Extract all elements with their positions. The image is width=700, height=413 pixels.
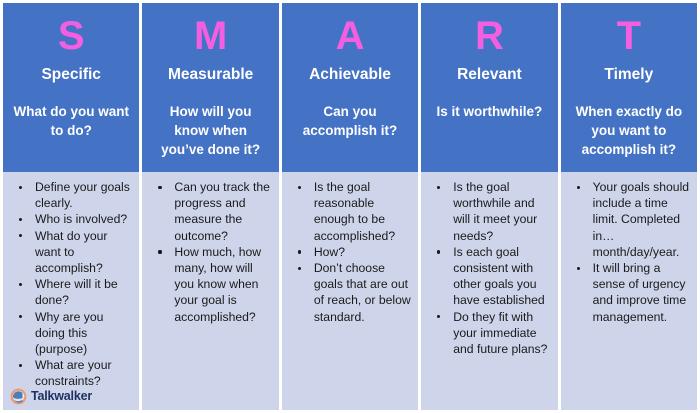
smart-columns-grid: S Specific What do you want to do? Defin…	[3, 3, 697, 410]
smart-goals-diagram: S Specific What do you want to do? Defin…	[0, 0, 700, 413]
list-item: Who is involved?	[9, 211, 133, 227]
list-item: Is the goal reasonable enough to be acco…	[288, 179, 412, 244]
list-item: Is the goal worthwhile and will it meet …	[427, 179, 551, 244]
bullet-list-measurable: Can you track the progress and measure t…	[148, 179, 272, 325]
column-body-timely: Your goals should include a time limit. …	[561, 172, 697, 410]
word-timely: Timely	[604, 65, 653, 85]
list-item: Do they fit with your immediate and futu…	[427, 309, 551, 358]
question-relevant: Is it worthwhile?	[433, 102, 547, 121]
smart-column-specific: S Specific What do you want to do? Defin…	[3, 3, 139, 410]
letter-a: A	[336, 13, 365, 63]
column-header-achievable: A Achievable Can you accomplish it?	[282, 3, 418, 172]
column-header-relevant: R Relevant Is it worthwhile?	[421, 3, 557, 172]
list-item: Don’t choose goals that are out of reach…	[288, 260, 412, 325]
bullet-list-specific: Define your goals clearly. Who is involv…	[9, 179, 133, 390]
talkwalker-logo: Talkwalker	[10, 388, 92, 405]
column-header-timely: T Timely When exactly do you want to acc…	[561, 3, 697, 172]
smart-column-timely: T Timely When exactly do you want to acc…	[561, 3, 697, 410]
bullet-list-timely: Your goals should include a time limit. …	[567, 179, 691, 325]
list-item: How much, how many, how will you know wh…	[148, 244, 272, 325]
smart-column-relevant: R Relevant Is it worthwhile? Is the goal…	[421, 3, 557, 410]
column-body-relevant: Is the goal worthwhile and will it meet …	[421, 172, 557, 410]
column-body-measurable: Can you track the progress and measure t…	[142, 172, 278, 410]
letter-t: T	[617, 13, 641, 63]
word-specific: Specific	[41, 65, 100, 85]
letter-r: R	[475, 13, 504, 63]
list-item: Why are you doing this (purpose)	[9, 309, 133, 358]
list-item: How?	[288, 244, 412, 260]
list-item: Your goals should include a time limit. …	[567, 179, 691, 260]
bullet-list-relevant: Is the goal worthwhile and will it meet …	[427, 179, 551, 357]
word-relevant: Relevant	[457, 65, 522, 85]
column-body-specific: Define your goals clearly. Who is involv…	[3, 172, 139, 410]
word-measurable: Measurable	[168, 65, 253, 85]
list-item: Where will it be done?	[9, 276, 133, 308]
list-item: Can you track the progress and measure t…	[148, 179, 272, 244]
list-item: Define your goals clearly.	[9, 179, 133, 211]
smart-column-achievable: A Achievable Can you accomplish it? Is t…	[282, 3, 418, 410]
smart-column-measurable: M Measurable How will you know when you’…	[142, 3, 278, 410]
list-item: What do your want to accomplish?	[9, 228, 133, 277]
list-item: Is each goal consistent with other goals…	[427, 244, 551, 309]
column-header-specific: S Specific What do you want to do?	[3, 3, 139, 172]
talkwalker-ring-icon	[10, 388, 27, 405]
question-specific: What do you want to do?	[9, 102, 133, 140]
word-achievable: Achievable	[309, 65, 391, 85]
talkwalker-wordmark: Talkwalker	[31, 390, 92, 403]
question-measurable: How will you know when you’ve done it?	[148, 102, 272, 159]
column-body-achievable: Is the goal reasonable enough to be acco…	[282, 172, 418, 410]
question-timely: When exactly do you want to accomplish i…	[567, 102, 691, 159]
letter-s: S	[58, 13, 85, 63]
column-header-measurable: M Measurable How will you know when you’…	[142, 3, 278, 172]
list-item: What are your constraints?	[9, 357, 133, 389]
bullet-list-achievable: Is the goal reasonable enough to be acco…	[288, 179, 412, 325]
list-item: It will bring a sense of urgency and imp…	[567, 260, 691, 325]
question-achievable: Can you accomplish it?	[288, 102, 412, 140]
letter-m: M	[194, 13, 227, 63]
